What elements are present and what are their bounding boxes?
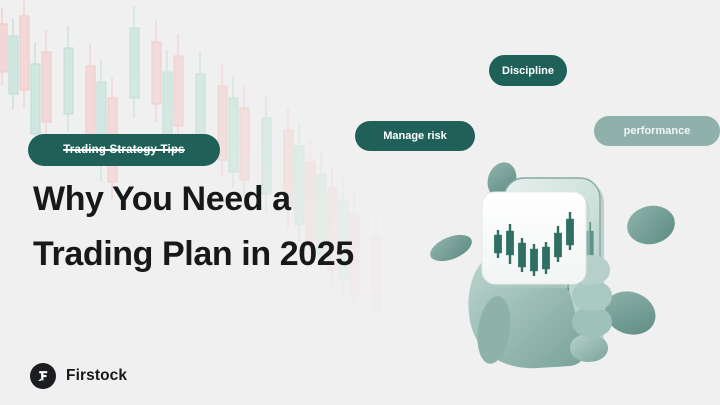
firstock-arrow-icon <box>30 363 56 389</box>
category-badge-label: Trading Strategy Tips <box>63 144 185 156</box>
tag-pill-label: Manage risk <box>383 130 447 142</box>
tag-pill-manage-risk[interactable]: Manage risk <box>355 121 475 151</box>
category-badge[interactable]: Trading Strategy Tips <box>28 134 220 166</box>
tag-pill-label: performance <box>624 125 691 137</box>
hand-holding-phone-illustration <box>420 150 720 405</box>
tag-pill-label: Discipline <box>502 65 554 77</box>
page-title: Why You Need a Trading Plan in 2025 <box>33 172 363 282</box>
floating-chart-card <box>482 192 590 288</box>
hero-banner: Trading Strategy Tips Why You Need a Tra… <box>0 0 720 405</box>
tag-pill-performance[interactable]: performance <box>594 116 720 146</box>
tag-pill-discipline[interactable]: Discipline <box>489 55 567 86</box>
brand-name: Firstock <box>66 367 127 385</box>
brand-logo[interactable]: Firstock <box>30 363 127 389</box>
